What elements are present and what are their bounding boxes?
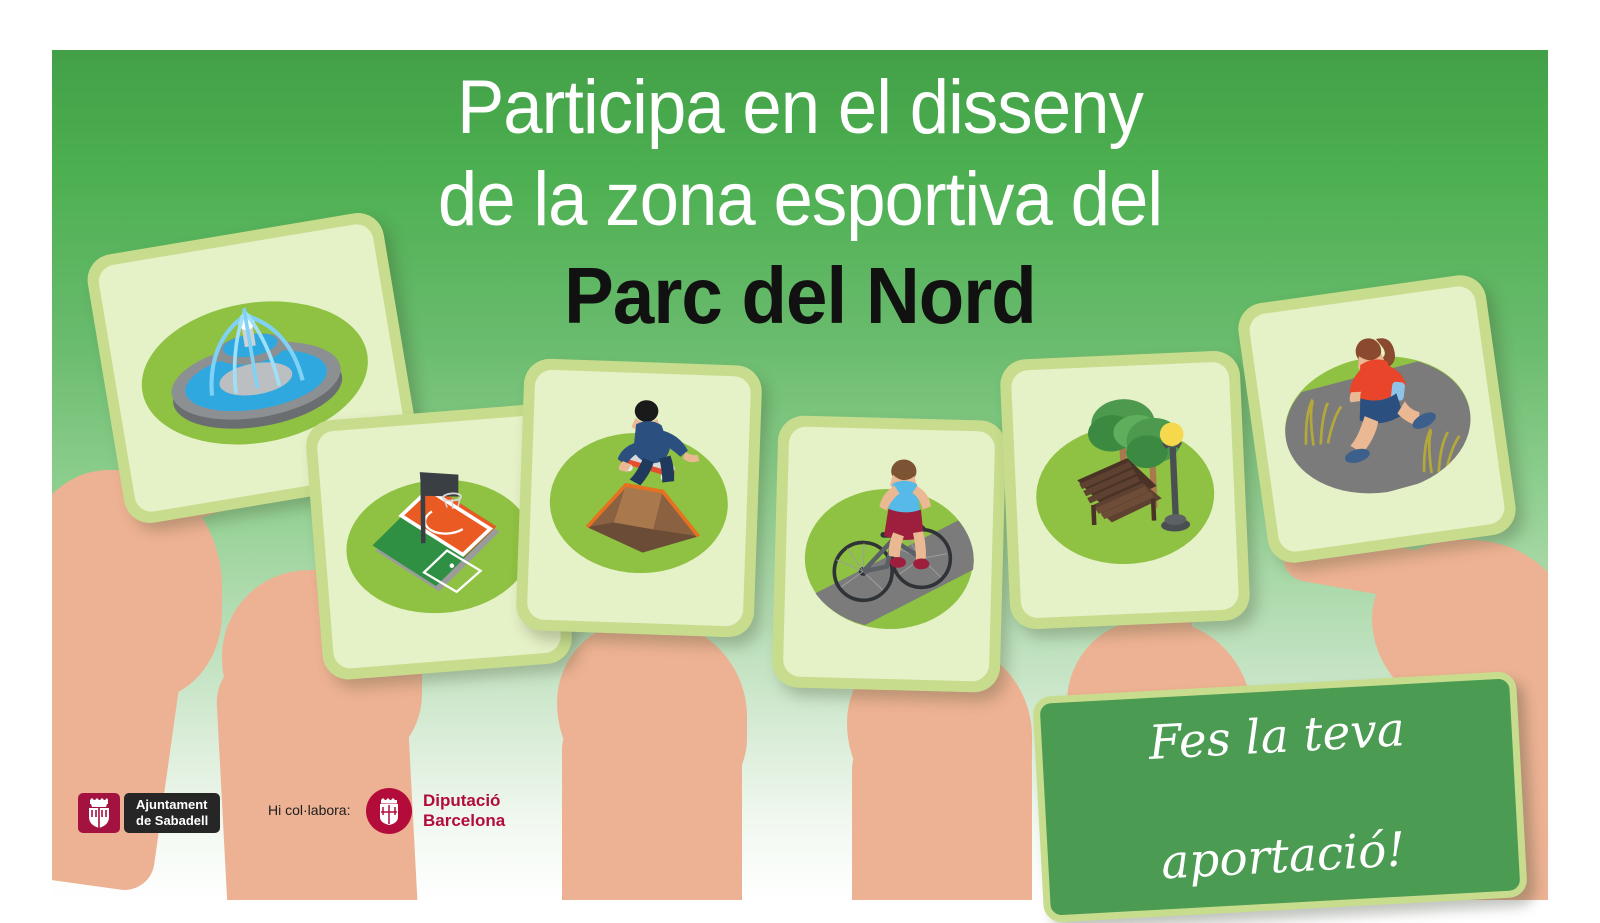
card-bike-path[interactable] xyxy=(771,415,1006,693)
sabadell-line-2: de Sabadell xyxy=(136,813,208,829)
card-running[interactable] xyxy=(1235,272,1519,566)
collaborator-label: Hi col·labora: xyxy=(268,802,350,818)
cta-line-1: Fes la teva xyxy=(1147,700,1406,774)
card-bike-face xyxy=(783,426,995,681)
bench-tree-lamp-icon xyxy=(1011,361,1240,618)
sabadell-name: Ajuntament de Sabadell xyxy=(124,793,220,833)
diputacio-name: Diputació Barcelona xyxy=(423,791,505,831)
footer-logos: Ajuntament de Sabadell Hi col·labora: Di… xyxy=(0,788,1600,848)
sabadell-line-1: Ajuntament xyxy=(136,797,208,813)
diputacio-emblem-icon xyxy=(366,788,412,834)
card-skatepark-face xyxy=(527,369,752,626)
card-park-furniture[interactable] xyxy=(999,350,1251,630)
card-running-face xyxy=(1247,284,1506,553)
runner-icon xyxy=(1247,284,1506,553)
diputacio-line-1: Diputació xyxy=(423,791,505,811)
cyclist-icon xyxy=(783,426,995,681)
diputacio-line-2: Barcelona xyxy=(423,811,505,831)
sabadell-shield-icon xyxy=(78,793,120,833)
card-park-face xyxy=(1011,361,1240,618)
card-skatepark[interactable] xyxy=(515,358,762,638)
logo-ajuntament-sabadell[interactable]: Ajuntament de Sabadell xyxy=(78,793,220,833)
skateboarder-icon xyxy=(527,369,752,626)
logo-diputacio-barcelona[interactable]: Diputació Barcelona xyxy=(366,788,505,834)
